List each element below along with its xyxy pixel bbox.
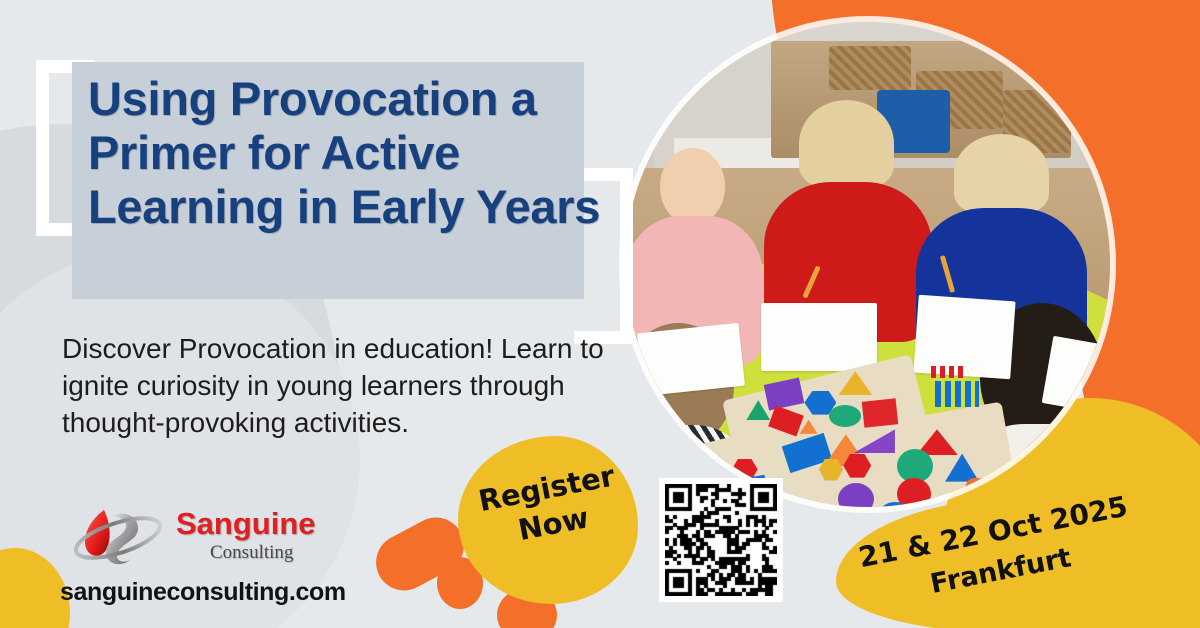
photo-foam-letters-blue xyxy=(935,381,979,407)
event-banner: Using Provocation a Primer for Active Le… xyxy=(0,0,1200,628)
sanguine-logo-icon xyxy=(68,502,172,568)
classroom-photo xyxy=(625,22,1110,507)
photo-foam-ellipse-green xyxy=(829,405,861,427)
photo-child-pink-head xyxy=(660,148,726,225)
page-subtitle: Discover Provocation in education! Learn… xyxy=(62,330,622,441)
brand-logo[interactable]: Sanguine Consulting sanguineconsulting.c… xyxy=(60,498,390,608)
photo-child-blue-hair xyxy=(954,134,1049,213)
brand-name: Sanguine xyxy=(176,506,316,542)
brand-website: sanguineconsulting.com xyxy=(60,578,346,607)
photo-basket-1 xyxy=(829,46,911,90)
brand-tagline: Consulting xyxy=(210,542,293,564)
photo-foam-letters-red xyxy=(931,366,965,378)
photo-worksheet-far-right xyxy=(1042,336,1110,416)
photo-worksheet-left xyxy=(637,322,745,395)
page-title: Using Provocation a Primer for Active Le… xyxy=(88,72,648,234)
photo-foam-square-red xyxy=(861,399,898,428)
photo-child-red-hair xyxy=(799,100,894,187)
qr-code-canvas xyxy=(665,484,777,596)
qr-code[interactable] xyxy=(659,478,783,602)
photo-worksheet-centre xyxy=(761,303,877,371)
